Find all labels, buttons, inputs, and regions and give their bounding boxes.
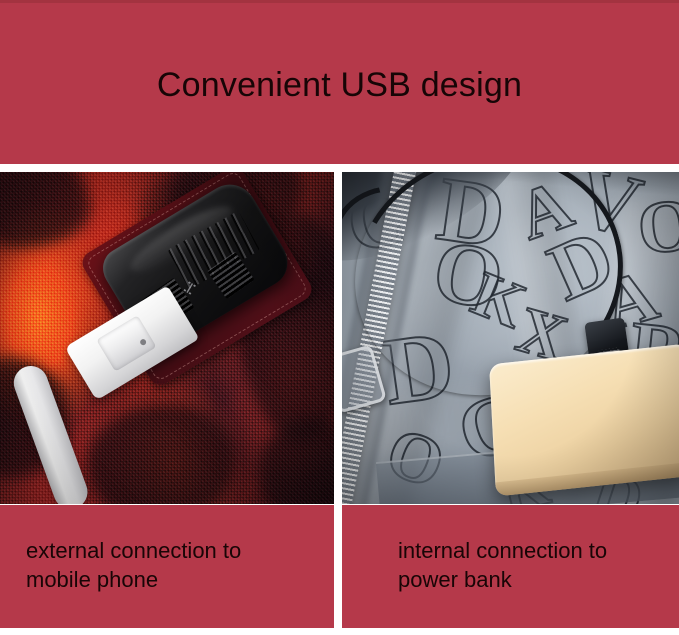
product-feature-poster: Convenient USB design ∺ xyxy=(0,0,679,635)
column-divider xyxy=(334,164,342,628)
caption-right-text: internal connection to power bank xyxy=(398,536,648,594)
caption-right: internal connection to power bank xyxy=(342,505,679,628)
photo-vignette xyxy=(0,172,334,504)
page-title: Convenient USB design xyxy=(0,3,679,167)
title-banner: Convenient USB design xyxy=(0,0,679,164)
photo-external-usb-port: ∺ xyxy=(0,172,334,504)
bottom-white-strip xyxy=(0,628,679,635)
caption-left-text: external connection to mobile phone xyxy=(26,536,276,594)
photo-vignette xyxy=(342,172,679,504)
caption-left: external connection to mobile phone xyxy=(0,505,334,628)
photo-internal-power-bank: CDAVODKOAXDRCAOVDK xyxy=(342,172,679,504)
